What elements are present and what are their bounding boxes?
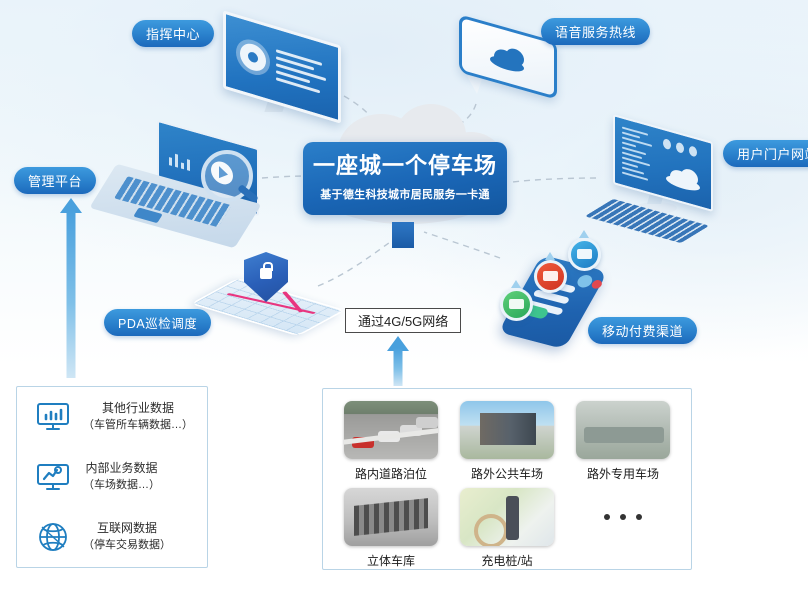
scene-thumbnail-on-street — [344, 401, 438, 459]
unionpay-app-icon — [568, 238, 601, 271]
data-source-detail: （车管所车辆数据…） — [83, 418, 193, 434]
scene-cell[interactable]: 立体车库 — [335, 488, 447, 569]
bubble-tail — [467, 76, 483, 94]
screen-text-lines — [276, 49, 326, 99]
scene-thumbnail-charging-station — [460, 488, 554, 546]
monitor-bar-chart-icon — [31, 397, 75, 437]
scene-cell[interactable]: 路外公共车场 — [451, 401, 563, 482]
diagram-canvas: 一座城一个停车场 基于德生科技城市居民服务一卡通 — [0, 0, 808, 590]
pda-security-illustration — [212, 252, 332, 344]
label-mobile-payment[interactable]: 移动付费渠道 — [588, 317, 697, 344]
data-source-text: 其他行业数据 （车管所车辆数据…） — [83, 400, 193, 433]
scene-cell[interactable]: 路内道路泊位 — [335, 401, 447, 482]
data-source-row[interactable]: 其他行业数据 （车管所车辆数据…） — [17, 387, 207, 447]
data-source-row[interactable]: 内部业务数据 （车场数据…） — [17, 447, 207, 507]
data-source-text: 互联网数据 （停车交易数据） — [83, 520, 171, 553]
parking-scenes-panel: 路内道路泊位 路外公共车场 路外专用车场 立体车库 充电桩/站 — [322, 388, 692, 570]
wechat-pay-app-icon — [500, 288, 533, 321]
data-source-detail: （停车交易数据） — [83, 538, 171, 554]
app-arrow-icon — [545, 252, 555, 260]
alipay-app-icon — [534, 260, 567, 293]
data-sources-panel: 其他行业数据 （车管所车辆数据…） 内部业务数据 （车场数据…） — [16, 386, 208, 568]
arrow-scenes-to-network — [385, 336, 411, 386]
data-source-detail: （车场数据…） — [83, 478, 160, 494]
data-source-text: 内部业务数据 （车场数据…） — [83, 460, 160, 493]
label-pda-inspection[interactable]: PDA巡检调度 — [104, 309, 211, 336]
management-laptop-illustration — [95, 132, 270, 242]
label-network[interactable]: 通过4G/5G网络 — [345, 308, 461, 333]
gear-icon — [240, 40, 266, 74]
scene-cell[interactable]: 路外专用车场 — [567, 401, 679, 482]
label-voice-hotline[interactable]: 语音服务热线 — [541, 18, 650, 45]
data-source-title: 内部业务数据 — [85, 460, 157, 477]
scene-caption: 路外公共车场 — [471, 465, 543, 482]
app-arrow-icon — [511, 280, 521, 288]
central-banner: 一座城一个停车场 基于德生科技城市居民服务一卡通 — [303, 142, 507, 215]
label-command-center[interactable]: 指挥中心 — [132, 20, 214, 47]
cloud-icon — [665, 163, 703, 194]
app-arrow-icon — [579, 230, 589, 238]
data-source-title: 其他行业数据 — [102, 400, 174, 417]
scene-thumbnail-public-lot — [460, 401, 554, 459]
data-source-row[interactable]: 互联网数据 （停车交易数据） — [17, 507, 207, 567]
scene-cell[interactable]: 充电桩/站 — [451, 488, 563, 569]
connector-user-portal — [512, 178, 596, 182]
user-portal-desktop-illustration — [595, 128, 725, 248]
command-center-monitor-illustration — [215, 22, 345, 127]
lock-icon — [260, 268, 272, 279]
screen-code-lines — [622, 127, 652, 185]
scene-thumbnail-special-lot — [576, 401, 670, 459]
center-subtitle: 基于德生科技城市居民服务一卡通 — [320, 186, 490, 202]
scenes-more-ellipsis — [567, 488, 679, 546]
scene-caption: 立体车库 — [367, 552, 415, 569]
scene-caption: 路内道路泊位 — [355, 465, 427, 482]
arrow-data-to-platform — [58, 198, 84, 378]
screen-avatar-dots — [663, 138, 697, 158]
label-user-portal[interactable]: 用户门户网站 — [723, 140, 808, 167]
monitor-line-chart-icon — [31, 457, 75, 497]
screen-bars — [169, 149, 190, 171]
scene-caption: 充电桩/站 — [481, 552, 532, 569]
globe-icon — [31, 517, 75, 557]
scene-thumbnail-multilevel-garage — [344, 488, 438, 546]
center-title: 一座城一个停车场 — [313, 155, 497, 177]
desktop-screen — [613, 114, 713, 212]
label-management-platform[interactable]: 管理平台 — [14, 167, 96, 194]
scenes-grid: 路内道路泊位 路外公共车场 路外专用车场 立体车库 充电桩/站 — [323, 389, 691, 575]
cloud-stem — [392, 222, 414, 248]
data-source-title: 互联网数据 — [97, 520, 157, 537]
cloud-icon — [488, 41, 528, 74]
scene-caption: 路外专用车场 — [587, 465, 659, 482]
